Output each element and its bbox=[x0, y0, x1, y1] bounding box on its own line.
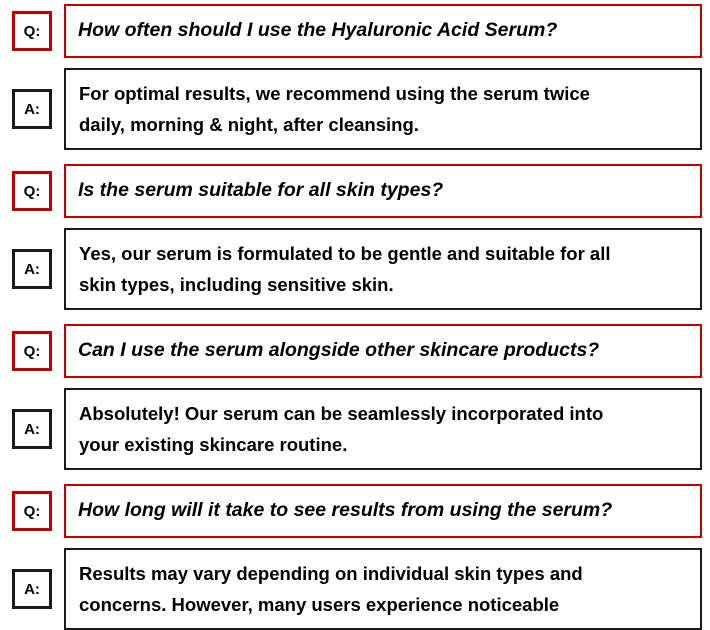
answer-tag-cell: A: bbox=[8, 548, 56, 630]
answer-content-cell: Yes, our serum is formulated to be gentl… bbox=[64, 228, 702, 310]
spacer bbox=[8, 58, 702, 68]
question-tag-cell: Q: bbox=[8, 324, 56, 378]
answer-row: A: For optimal results, we recommend usi… bbox=[8, 68, 702, 150]
answer-box: Absolutely! Our serum can be seamlessly … bbox=[64, 388, 702, 470]
answer-tag-cell: A: bbox=[8, 228, 56, 310]
question-row[interactable]: Q: How often should I use the Hyaluronic… bbox=[8, 4, 702, 58]
answer-text-line-2: daily, morning & night, after cleansing. bbox=[79, 109, 687, 140]
answer-tag-box: A: bbox=[12, 569, 52, 609]
answer-text-line-1: Yes, our serum is formulated to be gentl… bbox=[79, 238, 687, 269]
answer-row: A: Absolutely! Our serum can be seamless… bbox=[8, 388, 702, 470]
answer-tag-box: A: bbox=[12, 409, 52, 449]
spacer bbox=[8, 378, 702, 388]
question-tag-cell: Q: bbox=[8, 164, 56, 218]
question-box[interactable]: How long will it take to see results fro… bbox=[64, 484, 702, 538]
faq-item: Q: How often should I use the Hyaluronic… bbox=[8, 4, 702, 150]
spacer bbox=[8, 150, 702, 164]
spacer bbox=[8, 538, 702, 548]
question-content-cell: How long will it take to see results fro… bbox=[64, 484, 702, 538]
question-tag-box: Q: bbox=[12, 331, 52, 371]
question-content-cell: Is the serum suitable for all skin types… bbox=[64, 164, 702, 218]
answer-text-line-2: your existing skincare routine. bbox=[79, 429, 687, 460]
spacer bbox=[8, 218, 702, 228]
spacer bbox=[8, 310, 702, 324]
answer-box: Yes, our serum is formulated to be gentl… bbox=[64, 228, 702, 310]
question-box[interactable]: Can I use the serum alongside other skin… bbox=[64, 324, 702, 378]
question-tag-cell: Q: bbox=[8, 4, 56, 58]
faq-item: Q: Can I use the serum alongside other s… bbox=[8, 324, 702, 470]
question-tag-box: Q: bbox=[12, 491, 52, 531]
answer-row: A: Yes, our serum is formulated to be ge… bbox=[8, 228, 702, 310]
faq-board: Q: How often should I use the Hyaluronic… bbox=[0, 0, 710, 591]
answer-tag-cell: A: bbox=[8, 68, 56, 150]
answer-row: A: Results may vary depending on individ… bbox=[8, 548, 702, 630]
question-row[interactable]: Q: Is the serum suitable for all skin ty… bbox=[8, 164, 702, 218]
answer-tag-box: A: bbox=[12, 89, 52, 129]
answer-text-line-1: Results may vary depending on individual… bbox=[79, 558, 687, 589]
question-content-cell: Can I use the serum alongside other skin… bbox=[64, 324, 702, 378]
answer-content-cell: For optimal results, we recommend using … bbox=[64, 68, 702, 150]
question-row[interactable]: Q: How long will it take to see results … bbox=[8, 484, 702, 538]
question-box[interactable]: How often should I use the Hyaluronic Ac… bbox=[64, 4, 702, 58]
answer-box: Results may vary depending on individual… bbox=[64, 548, 702, 630]
answer-text-line-1: For optimal results, we recommend using … bbox=[79, 78, 687, 109]
question-text: How long will it take to see results fro… bbox=[78, 499, 688, 522]
question-text: Is the serum suitable for all skin types… bbox=[78, 179, 688, 202]
question-tag-box: Q: bbox=[12, 11, 52, 51]
answer-tag-box: A: bbox=[12, 249, 52, 289]
answer-box: For optimal results, we recommend using … bbox=[64, 68, 702, 150]
question-tag-box: Q: bbox=[12, 171, 52, 211]
answer-text-line-2: skin types, including sensitive skin. bbox=[79, 269, 687, 300]
question-tag-cell: Q: bbox=[8, 484, 56, 538]
question-text: Can I use the serum alongside other skin… bbox=[78, 339, 688, 362]
answer-tag-cell: A: bbox=[8, 388, 56, 470]
question-text: How often should I use the Hyaluronic Ac… bbox=[78, 19, 688, 42]
answer-text-line-2: concerns. However, many users experience… bbox=[79, 589, 687, 620]
faq-item: Q: How long will it take to see results … bbox=[8, 484, 702, 630]
faq-item: Q: Is the serum suitable for all skin ty… bbox=[8, 164, 702, 310]
answer-content-cell: Results may vary depending on individual… bbox=[64, 548, 702, 630]
question-content-cell: How often should I use the Hyaluronic Ac… bbox=[64, 4, 702, 58]
spacer bbox=[8, 470, 702, 484]
question-box[interactable]: Is the serum suitable for all skin types… bbox=[64, 164, 702, 218]
answer-text-line-1: Absolutely! Our serum can be seamlessly … bbox=[79, 398, 687, 429]
question-row[interactable]: Q: Can I use the serum alongside other s… bbox=[8, 324, 702, 378]
answer-content-cell: Absolutely! Our serum can be seamlessly … bbox=[64, 388, 702, 470]
